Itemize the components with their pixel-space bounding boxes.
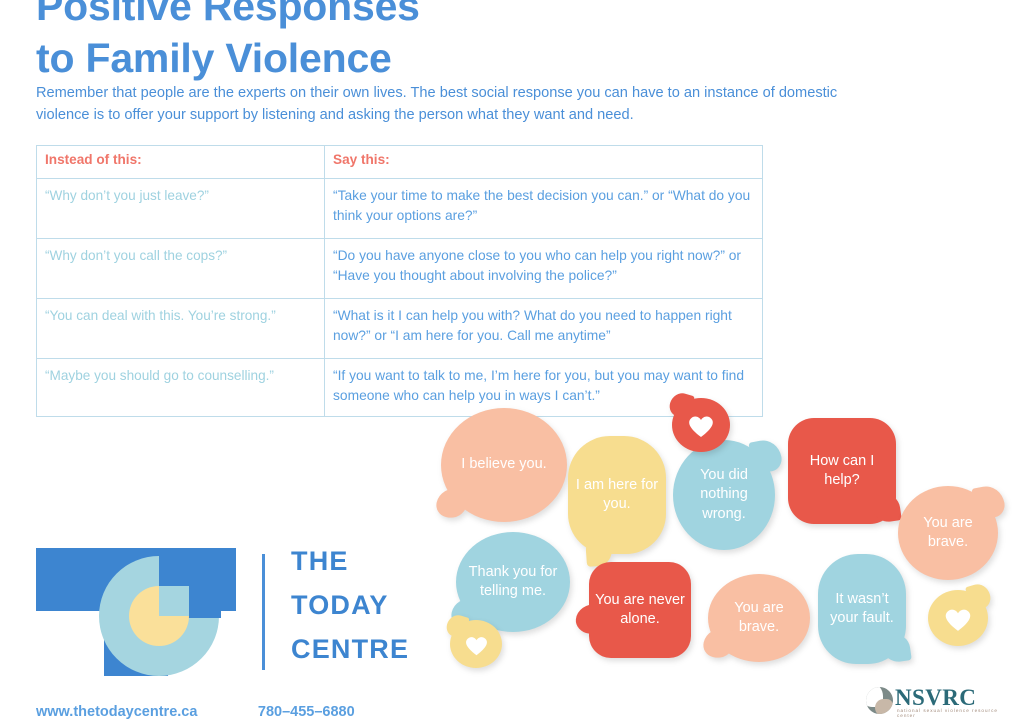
table-row: “Why don’t you call the cops?” “Do you h… (37, 239, 763, 299)
speech-bubble-you-are-never-alone: You are never alone. (589, 562, 691, 658)
table-row: “Why don’t you just leave?” “Take your t… (37, 179, 763, 239)
title-line-2: to Family Violence (36, 38, 896, 79)
cell-instead: “You can deal with this. You’re strong.” (37, 299, 325, 359)
logo-yellow-notch (159, 586, 189, 616)
logo-wordmark: THE TODAY CENTRE (291, 548, 409, 680)
cell-say: “Do you have anyone close to you who can… (325, 239, 763, 299)
logo-word-the: THE (291, 548, 409, 575)
logo-mark-icon (36, 548, 236, 676)
globe-icon (866, 687, 893, 714)
poster-page: Positive Responses to Family Violence Re… (0, 0, 1024, 716)
page-title: Positive Responses to Family Violence (36, 0, 896, 79)
speech-bubble-you-did-nothing-wrong: You did nothing wrong. (673, 440, 775, 550)
speech-bubble-i-am-here-for-you: I am here for you. (568, 436, 666, 554)
intro-paragraph: Remember that people are the experts on … (36, 82, 841, 126)
speech-bubble-thank-you-for-telling-me: Thank you for telling me. (456, 532, 570, 632)
footer-phone[interactable]: 780–455–6880 (258, 704, 355, 720)
speech-bubble-it-wasnt-your-fault: It wasn’t your fault. (818, 554, 906, 664)
cell-say: “What is it I can help you with? What do… (325, 299, 763, 359)
speech-bubble-you-are-brave-upper: You are brave. (898, 486, 998, 580)
heart-icon (686, 413, 716, 439)
cell-instead: “Why don’t you call the cops?” (37, 239, 325, 299)
logo-word-centre: CENTRE (291, 636, 409, 663)
logo-word-today: TODAY (291, 592, 409, 619)
table-header-cell-instead: Instead of this: (37, 146, 325, 179)
title-line-1: Positive Responses (36, 0, 896, 27)
nsvrc-logo: NSVRC national sexual violence resource … (866, 686, 1016, 718)
footer-contact: www.thetodaycentre.ca 780–455–6880 (36, 703, 636, 721)
heart-icon-red-badge (672, 398, 730, 452)
today-centre-logo: THE TODAY CENTRE (36, 548, 426, 678)
table-row: “You can deal with this. You’re strong.”… (37, 299, 763, 359)
speech-bubble-you-are-brave-lower: You are brave. (708, 574, 810, 662)
responses-table: Instead of this: Say this: “Why don’t yo… (36, 145, 763, 417)
heart-icon (463, 634, 490, 657)
table-header-row: Instead of this: Say this: (37, 146, 763, 179)
cell-say: “Take your time to make the best decisio… (325, 179, 763, 239)
table-header-cell-say: Say this: (325, 146, 763, 179)
heart-icon-yellow-badge-right (928, 590, 988, 646)
speech-bubble-how-can-i-help: How can I help? (788, 418, 896, 524)
logo-divider (262, 554, 265, 670)
cell-instead: “Why don’t you just leave?” (37, 179, 325, 239)
heart-icon-yellow-badge-left (450, 620, 502, 668)
footer-website[interactable]: www.thetodaycentre.ca (36, 704, 197, 720)
nsvrc-tagline: national sexual violence resource center (897, 708, 1016, 718)
speech-bubble-i-believe-you: I believe you. (441, 408, 567, 522)
heart-icon (942, 606, 974, 633)
